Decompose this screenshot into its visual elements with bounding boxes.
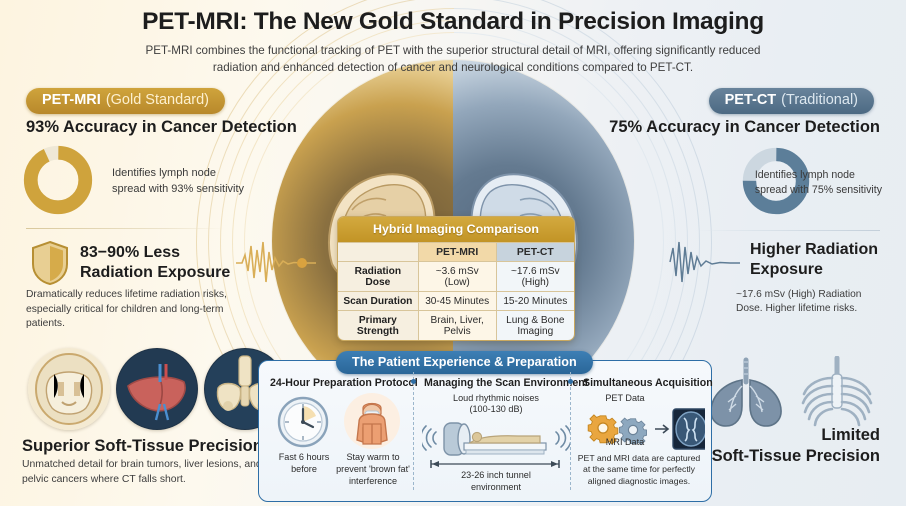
- left-organ-row: [28, 348, 286, 430]
- mri-data-label: MRI Data: [583, 437, 667, 449]
- row-petct-value: ~17.6 mSv (High): [496, 262, 574, 292]
- right-organ-row: [702, 356, 880, 432]
- right-limited-heading-line1: Limited: [712, 425, 880, 446]
- row-petmri-value: ~3.6 mSv (Low): [418, 262, 496, 292]
- left-radiation-heading: 83−90% Less Radiation Exposure: [80, 243, 230, 283]
- row-label: Primary Strength: [338, 311, 418, 341]
- comparison-table-title: Hybrid Imaging Comparison: [338, 217, 574, 242]
- right-radiation-body: ~17.6 mSv (High) Radiation Dose. Higher …: [736, 288, 882, 317]
- left-soft-tissue-body: Unmatched detail for brain tumors, liver…: [22, 458, 270, 488]
- badge-pet-ct: PET-CT (Traditional): [709, 88, 874, 114]
- prep-protocol-title: 24-Hour Preparation Protocol: [270, 377, 418, 389]
- th-pet-mri: PET-MRI: [418, 243, 496, 262]
- table-header-row: PET-MRI PET-CT: [338, 243, 574, 262]
- ribcage-icon: [794, 356, 880, 432]
- right-donut-note: Identifies lymph nodespread with 75% sen…: [755, 168, 882, 199]
- simultaneous-caption: PET and MRI data are captured at the sam…: [575, 453, 703, 487]
- left-accuracy-heading: 93% Accuracy in Cancer Detection: [26, 118, 297, 137]
- mri-scanner-icon: [422, 415, 570, 461]
- left-radiation-body: Dramatically reduces lifetime radiation …: [26, 288, 236, 332]
- badge-pet-ct-sub: (Traditional): [781, 93, 858, 108]
- left-soft-tissue-heading: Superior Soft-Tissue Precision: [22, 437, 263, 456]
- simultaneous-acquisition-title: Simultaneous Acquisition: [583, 377, 713, 389]
- right-limited-heading: Limited Soft-Tissue Precision: [712, 425, 880, 466]
- badge-pet-mri: PET-MRI (Gold Standard): [26, 88, 225, 114]
- warm-jacket-icon: [343, 392, 401, 450]
- page-subtitle: PET-MRI combines the functional tracking…: [135, 42, 771, 77]
- infographic-root: PET-MRI: The New Gold Standard in Precis…: [0, 0, 906, 506]
- brain-organ-icon: [28, 348, 110, 430]
- badge-pet-ct-main: PET-CT: [725, 93, 777, 108]
- row-label: Scan Duration: [338, 292, 418, 311]
- right-radiation-heading-line2: Exposure: [750, 260, 880, 280]
- donut-chart-pet-mri: [22, 144, 94, 216]
- left-divider: [26, 228, 224, 229]
- patient-panel-title: The Patient Experience & Preparation: [336, 351, 593, 374]
- prep-item2-caption: Stay warm toprevent 'brown fat'interfere…: [330, 452, 416, 487]
- left-donut-note: Identifies lymph nodespread with 93% sen…: [112, 166, 244, 198]
- comparison-table-body: Radiation Dose ~3.6 mSv (Low) ~17.6 mSv …: [338, 262, 574, 341]
- comparison-table: Hybrid Imaging Comparison PET-MRI PET-CT…: [337, 216, 575, 341]
- table-row: Primary Strength Brain, Liver, Pelvis Lu…: [338, 311, 574, 341]
- lungs-icon: [702, 356, 790, 432]
- right-limited-heading-line2: Soft-Tissue Precision: [712, 446, 880, 467]
- right-accuracy-heading: 75% Accuracy in Cancer Detection: [609, 118, 880, 137]
- liver-organ-icon: [116, 348, 198, 430]
- right-radiation-heading: Higher Radiation Exposure: [750, 240, 880, 280]
- row-petmri-value: Brain, Liver, Pelvis: [418, 311, 496, 341]
- page-title: PET-MRI: The New Gold Standard in Precis…: [0, 8, 906, 36]
- row-petct-value: 15-20 Minutes: [496, 292, 574, 311]
- right-radiation-heading-line1: Higher Radiation: [750, 240, 880, 260]
- waveform-blue-icon: [668, 238, 740, 286]
- left-radiation-heading-line1: 83−90% Less: [80, 243, 230, 263]
- scan-environment-title: Managing the Scan Environment: [424, 377, 588, 389]
- th-pet-ct: PET-CT: [496, 243, 574, 262]
- clock-icon: [277, 396, 329, 448]
- right-divider: [694, 230, 880, 231]
- tunnel-dimension-arrow: [428, 459, 562, 469]
- row-petmri-value: 30-45 Minutes: [418, 292, 496, 311]
- left-radiation-heading-line2: Radiation Exposure: [80, 263, 230, 283]
- tunnel-caption: 23-26 inch tunnelenvironment: [424, 470, 568, 494]
- panel-divider-dot-2: [568, 379, 573, 384]
- th-blank: [338, 243, 418, 262]
- badge-pet-mri-sub: (Gold Standard): [106, 93, 209, 108]
- table-row: Scan Duration 30-45 Minutes 15-20 Minute…: [338, 292, 574, 311]
- table-row: Radiation Dose ~3.6 mSv (Low) ~17.6 mSv …: [338, 262, 574, 292]
- badge-pet-mri-main: PET-MRI: [42, 93, 101, 108]
- waveform-gold-icon: [236, 238, 316, 286]
- panel-divider-2: [570, 372, 571, 490]
- panel-divider-dot-1: [411, 379, 416, 384]
- row-label: Radiation Dose: [338, 262, 418, 292]
- row-petct-value: Lung & Bone Imaging: [496, 311, 574, 341]
- shield-icon: [30, 240, 70, 286]
